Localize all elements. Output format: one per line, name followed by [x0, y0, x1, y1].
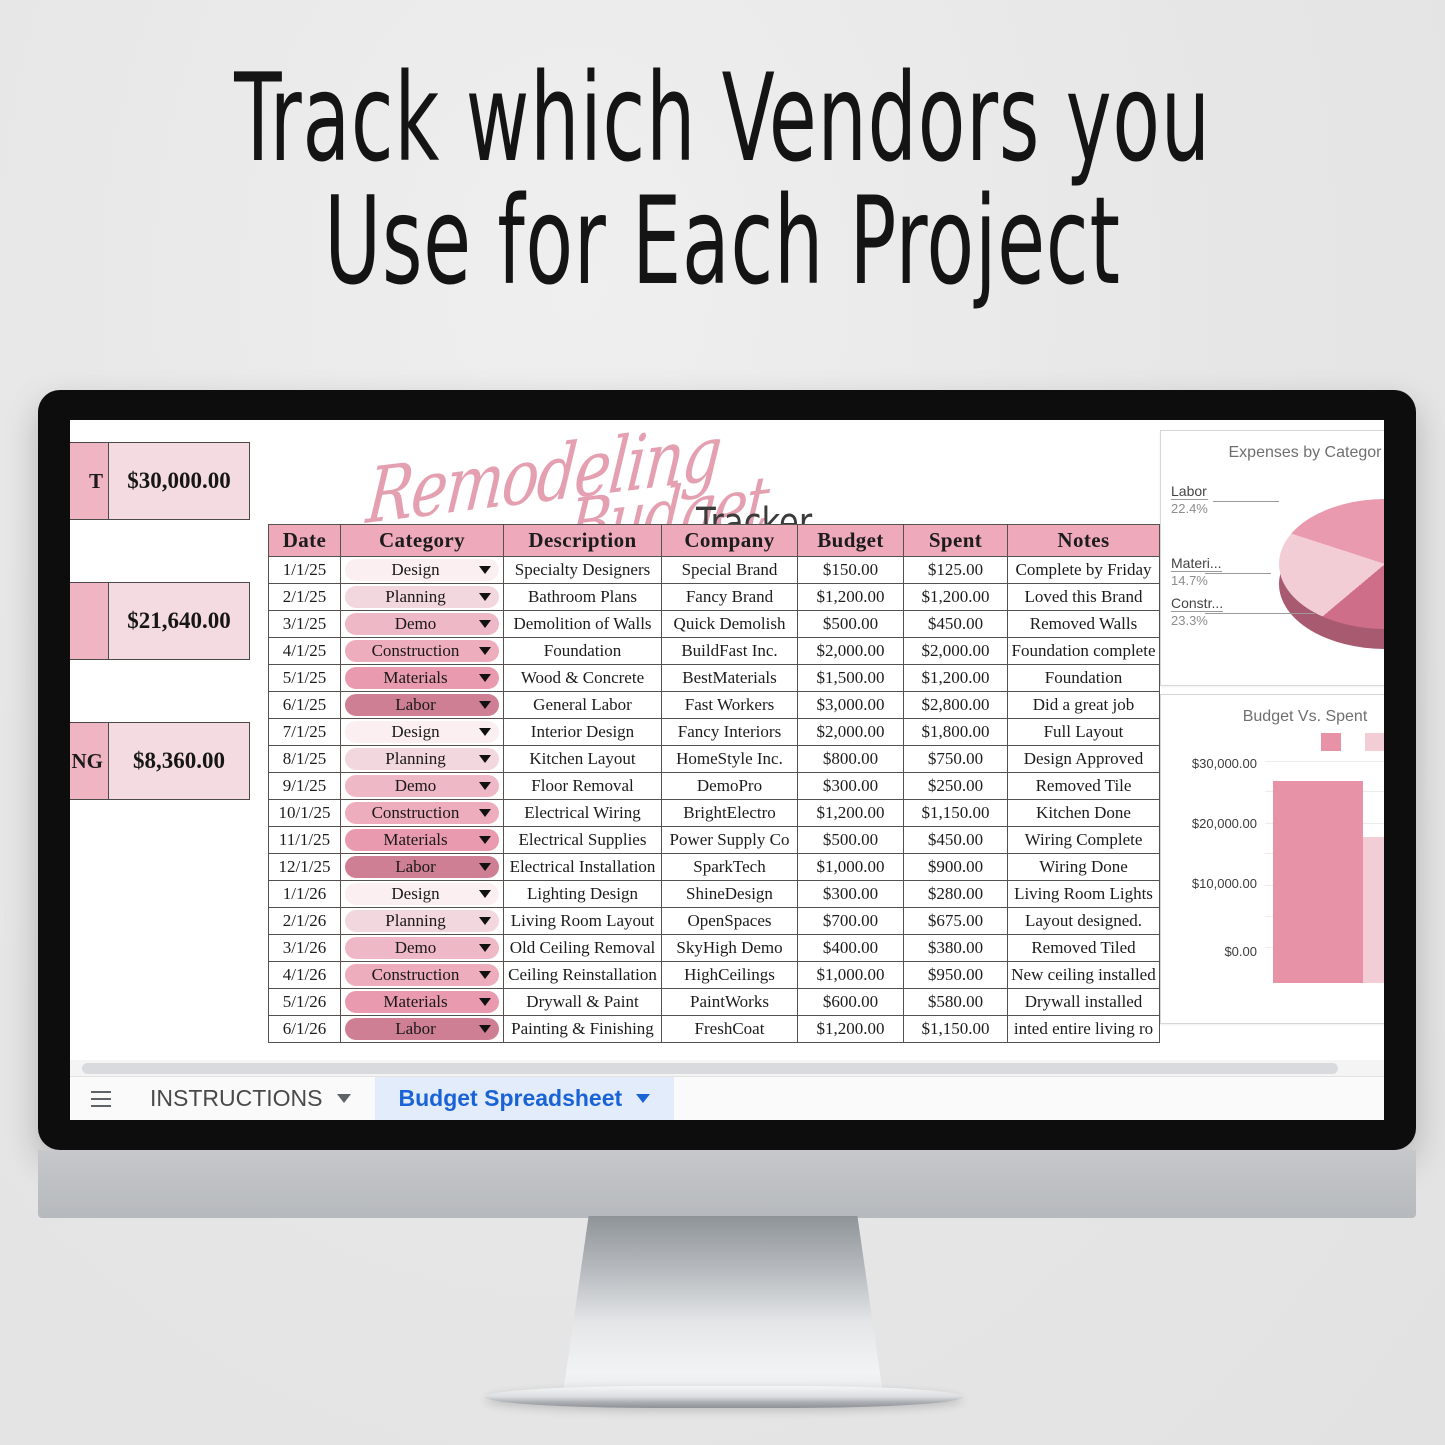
- cell-budget[interactable]: $150.00: [798, 557, 904, 584]
- cell-description[interactable]: General Labor: [504, 692, 662, 719]
- cell-notes[interactable]: inted entire living ro: [1008, 1016, 1160, 1043]
- cell-category-dropdown[interactable]: Construction: [341, 962, 504, 989]
- chevron-down-icon[interactable]: [479, 620, 491, 628]
- bar-spent: [1273, 781, 1363, 983]
- category-pill-label: Demo: [355, 776, 476, 796]
- chevron-down-icon[interactable]: [479, 998, 491, 1006]
- sheet-tab-label: Budget Spreadsheet: [399, 1085, 623, 1112]
- table-row[interactable]: 6/1/26LaborPainting & FinishingFreshCoat…: [269, 1016, 1160, 1043]
- page-headline: Track which Vendors you Use for Each Pro…: [145, 58, 1301, 305]
- cell-budget[interactable]: $1,200.00: [798, 584, 904, 611]
- cell-category-dropdown[interactable]: Labor: [341, 1016, 504, 1043]
- cell-description[interactable]: Lighting Design: [504, 881, 662, 908]
- cell-category-dropdown[interactable]: Planning: [341, 908, 504, 935]
- category-pill-label: Construction: [355, 965, 476, 985]
- monitor-screen: T$30,000.00$21,640.00NG$8,360.00 Remodel…: [70, 420, 1384, 1120]
- cell-spent[interactable]: $250.00: [904, 773, 1008, 800]
- cell-category-dropdown[interactable]: Construction: [341, 800, 504, 827]
- cell-budget[interactable]: $3,000.00: [798, 692, 904, 719]
- cell-spent[interactable]: $1,150.00: [904, 1016, 1008, 1043]
- cell-budget[interactable]: $800.00: [798, 746, 904, 773]
- column-header-notes[interactable]: Notes: [1008, 525, 1160, 557]
- horizontal-scrollbar[interactable]: [70, 1060, 1384, 1076]
- cell-notes[interactable]: Design Approved: [1008, 746, 1160, 773]
- category-pill[interactable]: Materials: [345, 667, 499, 689]
- bar-chart-legend: [1321, 733, 1384, 751]
- cell-notes[interactable]: Complete by Friday: [1008, 557, 1160, 584]
- cell-spent[interactable]: $950.00: [904, 962, 1008, 989]
- cell-spent[interactable]: $580.00: [904, 989, 1008, 1016]
- table-row[interactable]: 3/1/25DemoDemolition of WallsQuick Demol…: [269, 611, 1160, 638]
- category-pill[interactable]: Planning: [345, 910, 499, 932]
- table-header-row: DateCategoryDescriptionCompanyBudgetSpen…: [269, 525, 1160, 557]
- cell-spent[interactable]: $1,200.00: [904, 665, 1008, 692]
- chevron-down-icon[interactable]: [479, 593, 491, 601]
- category-pill-label: Materials: [355, 668, 476, 688]
- category-pill-label: Design: [355, 884, 476, 904]
- cell-notes[interactable]: Foundation complete: [1008, 638, 1160, 665]
- category-pill[interactable]: Design: [345, 721, 499, 743]
- cell-spent[interactable]: $2,000.00: [904, 638, 1008, 665]
- cell-category-dropdown[interactable]: Design: [341, 881, 504, 908]
- category-pill-label: Construction: [355, 641, 476, 661]
- category-pill-label: Demo: [355, 938, 476, 958]
- summary-card[interactable]: T$30,000.00: [70, 442, 250, 520]
- category-pill[interactable]: Construction: [345, 640, 499, 662]
- cell-budget[interactable]: $500.00: [798, 827, 904, 854]
- table-row[interactable]: 7/1/25DesignInterior DesignFancy Interio…: [269, 719, 1160, 746]
- cell-budget[interactable]: $1,000.00: [798, 962, 904, 989]
- cell-date[interactable]: 11/1/25: [269, 827, 341, 854]
- table-row[interactable]: 2/1/25PlanningBathroom PlansFancy Brand$…: [269, 584, 1160, 611]
- column-header-category[interactable]: Category: [341, 525, 504, 557]
- bar-chart-title: Budget Vs. Spent: [1161, 708, 1384, 726]
- chevron-down-icon[interactable]: [479, 755, 491, 763]
- pie-slice-name: Constr...: [1171, 595, 1223, 611]
- pie-chart-graphic: [1279, 493, 1384, 653]
- category-pill[interactable]: Planning: [345, 748, 499, 770]
- chevron-down-icon[interactable]: [479, 836, 491, 844]
- table-row[interactable]: 5/1/25MaterialsWood & ConcreteBestMateri…: [269, 665, 1160, 692]
- table-row[interactable]: 12/1/25LaborElectrical InstallationSpark…: [269, 854, 1160, 881]
- summary-card-label: [70, 583, 109, 659]
- table-row[interactable]: 2/1/26PlanningLiving Room LayoutOpenSpac…: [269, 908, 1160, 935]
- y-axis-tick: $30,000.00: [1165, 757, 1257, 771]
- category-pill[interactable]: Labor: [345, 856, 499, 878]
- cell-category-dropdown[interactable]: Planning: [341, 746, 504, 773]
- summary-card[interactable]: $21,640.00: [70, 582, 250, 660]
- cell-company[interactable]: PaintWorks: [662, 989, 798, 1016]
- pie-callout-leader-line: [1205, 573, 1271, 574]
- cell-spent[interactable]: $750.00: [904, 746, 1008, 773]
- cell-spent[interactable]: $2,800.00: [904, 692, 1008, 719]
- category-pill[interactable]: Planning: [345, 586, 499, 608]
- headline-line-2: Use for Each Project: [145, 181, 1301, 304]
- budget-table[interactable]: DateCategoryDescriptionCompanyBudgetSpen…: [268, 524, 1160, 1043]
- monitor-base: [485, 1386, 963, 1408]
- cell-date[interactable]: 3/1/25: [269, 611, 341, 638]
- cell-notes[interactable]: Wiring Done: [1008, 854, 1160, 881]
- table-body[interactable]: 1/1/25DesignSpecialty DesignersSpecial B…: [269, 557, 1160, 1043]
- cell-spent[interactable]: $380.00: [904, 935, 1008, 962]
- cell-category-dropdown[interactable]: Materials: [341, 665, 504, 692]
- cell-budget[interactable]: $700.00: [798, 908, 904, 935]
- cell-category-dropdown[interactable]: Design: [341, 719, 504, 746]
- cell-category-dropdown[interactable]: Construction: [341, 638, 504, 665]
- cell-date[interactable]: 3/1/26: [269, 935, 341, 962]
- cell-budget[interactable]: $400.00: [798, 935, 904, 962]
- cell-date[interactable]: 9/1/25: [269, 773, 341, 800]
- cell-notes[interactable]: Full Layout: [1008, 719, 1160, 746]
- cell-company[interactable]: DemoPro: [662, 773, 798, 800]
- cell-notes[interactable]: Did a great job: [1008, 692, 1160, 719]
- pie-chart-title: Expenses by Categor: [1161, 444, 1384, 462]
- summary-card-value: $30,000.00: [109, 443, 249, 519]
- cell-notes[interactable]: Drywall installed: [1008, 989, 1160, 1016]
- cell-company[interactable]: BrightElectro: [662, 800, 798, 827]
- cell-company[interactable]: Quick Demolish: [662, 611, 798, 638]
- cell-company[interactable]: HomeStyle Inc.: [662, 746, 798, 773]
- cell-company[interactable]: FreshCoat: [662, 1016, 798, 1043]
- summary-card-value: $8,360.00: [109, 723, 249, 799]
- column-header-description[interactable]: Description: [504, 525, 662, 557]
- cell-category-dropdown[interactable]: Demo: [341, 773, 504, 800]
- hamburger-line: [91, 1091, 111, 1093]
- column-header-budget[interactable]: Budget: [798, 525, 904, 557]
- category-pill[interactable]: Design: [345, 559, 499, 581]
- cell-description[interactable]: Kitchen Layout: [504, 746, 662, 773]
- cell-date[interactable]: 5/1/26: [269, 989, 341, 1016]
- cell-date[interactable]: 8/1/25: [269, 746, 341, 773]
- sheet-tab-bar[interactable]: INSTRUCTIONSBudget Spreadsheet: [70, 1076, 1384, 1120]
- pie-slice-callout: Labor22.4%: [1171, 483, 1208, 516]
- chevron-down-icon[interactable]: [479, 863, 491, 871]
- cell-company[interactable]: SkyHigh Demo: [662, 935, 798, 962]
- sheet-tab-budget-spreadsheet[interactable]: Budget Spreadsheet: [375, 1077, 675, 1121]
- category-pill[interactable]: Construction: [345, 802, 499, 824]
- cell-category-dropdown[interactable]: Demo: [341, 611, 504, 638]
- cell-description[interactable]: Floor Removal: [504, 773, 662, 800]
- cell-description[interactable]: Interior Design: [504, 719, 662, 746]
- category-pill-label: Planning: [355, 749, 476, 769]
- bar-chart-plot-area: TOTAL BUDGET: [1265, 761, 1384, 983]
- summary-card-label: T: [70, 443, 109, 519]
- column-header-spent[interactable]: Spent: [904, 525, 1008, 557]
- cell-spent[interactable]: $280.00: [904, 881, 1008, 908]
- cell-date[interactable]: 6/1/26: [269, 1016, 341, 1043]
- cell-notes[interactable]: Foundation: [1008, 665, 1160, 692]
- cell-company[interactable]: ShineDesign: [662, 881, 798, 908]
- table-row[interactable]: 1/1/25DesignSpecialty DesignersSpecial B…: [269, 557, 1160, 584]
- cell-spent[interactable]: $1,200.00: [904, 584, 1008, 611]
- pie-callout-leader-line: [1205, 613, 1315, 614]
- cell-company[interactable]: Fast Workers: [662, 692, 798, 719]
- cell-date[interactable]: 7/1/25: [269, 719, 341, 746]
- cell-notes[interactable]: Removed Walls: [1008, 611, 1160, 638]
- cell-notes[interactable]: Living Room Lights: [1008, 881, 1160, 908]
- chevron-down-icon[interactable]: [636, 1094, 650, 1103]
- cell-spent[interactable]: $675.00: [904, 908, 1008, 935]
- category-pill[interactable]: Design: [345, 883, 499, 905]
- legend-swatch-spent: [1321, 733, 1341, 751]
- column-header-company[interactable]: Company: [662, 525, 798, 557]
- cell-budget[interactable]: $1,500.00: [798, 665, 904, 692]
- chevron-down-icon[interactable]: [479, 566, 491, 574]
- cell-description[interactable]: Painting & Finishing: [504, 1016, 662, 1043]
- cell-date[interactable]: 5/1/25: [269, 665, 341, 692]
- hamburger-line: [91, 1105, 111, 1107]
- monitor-bezel: T$30,000.00$21,640.00NG$8,360.00 Remodel…: [38, 390, 1416, 1150]
- cell-category-dropdown[interactable]: Materials: [341, 827, 504, 854]
- chevron-down-icon[interactable]: [479, 890, 491, 898]
- category-pill[interactable]: Demo: [345, 613, 499, 635]
- hamburger-icon[interactable]: [70, 1091, 126, 1107]
- cell-budget[interactable]: $1,200.00: [798, 1016, 904, 1043]
- chevron-down-icon[interactable]: [479, 944, 491, 952]
- cell-description[interactable]: Demolition of Walls: [504, 611, 662, 638]
- cell-company[interactable]: BestMaterials: [662, 665, 798, 692]
- cell-date[interactable]: 4/1/25: [269, 638, 341, 665]
- category-pill[interactable]: Demo: [345, 775, 499, 797]
- cell-notes[interactable]: Loved this Brand: [1008, 584, 1160, 611]
- column-header-date[interactable]: Date: [269, 525, 341, 557]
- cell-category-dropdown[interactable]: Labor: [341, 854, 504, 881]
- chevron-down-icon[interactable]: [479, 674, 491, 682]
- table-row[interactable]: 6/1/25LaborGeneral LaborFast Workers$3,0…: [269, 692, 1160, 719]
- y-axis-tick: $10,000.00: [1165, 877, 1257, 891]
- table-row[interactable]: 4/1/25ConstructionFoundationBuildFast In…: [269, 638, 1160, 665]
- cell-description[interactable]: Bathroom Plans: [504, 584, 662, 611]
- summary-cards: T$30,000.00$21,640.00NG$8,360.00: [70, 442, 250, 862]
- cell-description[interactable]: Electrical Supplies: [504, 827, 662, 854]
- category-pill-label: Planning: [355, 911, 476, 931]
- headline-line-1: Track which Vendors you: [234, 49, 1211, 189]
- cell-spent[interactable]: $450.00: [904, 611, 1008, 638]
- cell-date[interactable]: 6/1/25: [269, 692, 341, 719]
- cell-budget[interactable]: $300.00: [798, 773, 904, 800]
- category-pill[interactable]: Materials: [345, 991, 499, 1013]
- table-row[interactable]: 10/1/25ConstructionElectrical WiringBrig…: [269, 800, 1160, 827]
- cell-description[interactable]: Wood & Concrete: [504, 665, 662, 692]
- cell-budget[interactable]: $600.00: [798, 989, 904, 1016]
- category-pill-label: Design: [355, 722, 476, 742]
- cell-company[interactable]: Special Brand: [662, 557, 798, 584]
- monitor-stand: [563, 1216, 883, 1394]
- table-row[interactable]: 1/1/26DesignLighting DesignShineDesign$3…: [269, 881, 1160, 908]
- cell-spent[interactable]: $450.00: [904, 827, 1008, 854]
- cell-date[interactable]: 1/1/26: [269, 881, 341, 908]
- category-pill[interactable]: Demo: [345, 937, 499, 959]
- pie-callout-leader-line: [1213, 501, 1279, 502]
- category-pill[interactable]: Labor: [345, 694, 499, 716]
- category-pill[interactable]: Labor: [345, 1018, 499, 1040]
- sheet-tab-label: INSTRUCTIONS: [150, 1085, 323, 1112]
- cell-budget[interactable]: $1,000.00: [798, 854, 904, 881]
- cell-date[interactable]: 4/1/26: [269, 962, 341, 989]
- cell-description[interactable]: Ceiling Reinstallation: [504, 962, 662, 989]
- cell-notes[interactable]: Kitchen Done: [1008, 800, 1160, 827]
- category-pill[interactable]: Construction: [345, 964, 499, 986]
- cell-notes[interactable]: Removed Tiled: [1008, 935, 1160, 962]
- cell-date[interactable]: 1/1/25: [269, 557, 341, 584]
- pie-slice-name: Labor: [1171, 483, 1207, 499]
- table-header: DateCategoryDescriptionCompanyBudgetSpen…: [269, 525, 1160, 557]
- spreadsheet-surface: T$30,000.00$21,640.00NG$8,360.00 Remodel…: [70, 420, 1384, 1120]
- chart-gridline: [1265, 761, 1384, 762]
- table-row[interactable]: 3/1/26DemoOld Ceiling RemovalSkyHigh Dem…: [269, 935, 1160, 962]
- summary-card[interactable]: NG$8,360.00: [70, 722, 250, 800]
- cell-date[interactable]: 12/1/25: [269, 854, 341, 881]
- cell-date[interactable]: 10/1/25: [269, 800, 341, 827]
- cell-category-dropdown[interactable]: Design: [341, 557, 504, 584]
- cell-description[interactable]: Foundation: [504, 638, 662, 665]
- chevron-down-icon[interactable]: [479, 728, 491, 736]
- chevron-down-icon[interactable]: [479, 809, 491, 817]
- table-row[interactable]: 4/1/26ConstructionCeiling Reinstallation…: [269, 962, 1160, 989]
- cell-company[interactable]: Fancy Brand: [662, 584, 798, 611]
- chevron-down-icon[interactable]: [479, 701, 491, 709]
- scrollbar-thumb[interactable]: [82, 1063, 1338, 1074]
- table-row[interactable]: 5/1/26MaterialsDrywall & PaintPaintWorks…: [269, 989, 1160, 1016]
- category-pill-label: Labor: [355, 1019, 476, 1039]
- hamburger-line: [91, 1098, 111, 1100]
- cell-date[interactable]: 2/1/25: [269, 584, 341, 611]
- pie-slice-name: Materi...: [1171, 555, 1222, 571]
- category-pill-label: Labor: [355, 695, 476, 715]
- y-axis-tick: $0.00: [1165, 945, 1257, 959]
- y-axis-tick: $20,000.00: [1165, 817, 1257, 831]
- sheet-tabs[interactable]: INSTRUCTIONSBudget Spreadsheet: [126, 1077, 674, 1121]
- cell-company[interactable]: HighCeilings: [662, 962, 798, 989]
- category-pill[interactable]: Materials: [345, 829, 499, 851]
- cell-description[interactable]: Specialty Designers: [504, 557, 662, 584]
- cell-category-dropdown[interactable]: Demo: [341, 935, 504, 962]
- cell-description[interactable]: Electrical Installation: [504, 854, 662, 881]
- bar-total-budget: [1363, 837, 1384, 983]
- category-pill-label: Materials: [355, 992, 476, 1012]
- pie-slice-percent: 22.4%: [1171, 499, 1208, 516]
- table-row[interactable]: 11/1/25MaterialsElectrical SuppliesPower…: [269, 827, 1160, 854]
- cell-budget[interactable]: $2,000.00: [798, 638, 904, 665]
- cell-spent[interactable]: $1,800.00: [904, 719, 1008, 746]
- cell-spent[interactable]: $900.00: [904, 854, 1008, 881]
- category-pill-label: Materials: [355, 830, 476, 850]
- pie-chart-panel[interactable]: Expenses by Categor Labor22.4%Materi...1…: [1160, 430, 1384, 686]
- bar-chart-panel[interactable]: Budget Vs. Spent $30,000.00$20,000.00$10…: [1160, 694, 1384, 1024]
- cell-budget[interactable]: $500.00: [798, 611, 904, 638]
- cell-spent[interactable]: $1,150.00: [904, 800, 1008, 827]
- category-pill-label: Construction: [355, 803, 476, 823]
- cell-notes[interactable]: Wiring Complete: [1008, 827, 1160, 854]
- cell-company[interactable]: BuildFast Inc.: [662, 638, 798, 665]
- table-row[interactable]: 8/1/25PlanningKitchen LayoutHomeStyle In…: [269, 746, 1160, 773]
- cell-budget[interactable]: $2,000.00: [798, 719, 904, 746]
- chevron-down-icon[interactable]: [479, 917, 491, 925]
- category-pill-label: Labor: [355, 857, 476, 877]
- category-pill-label: Design: [355, 560, 476, 580]
- summary-card-label: NG: [70, 723, 109, 799]
- chevron-down-icon[interactable]: [479, 647, 491, 655]
- cell-description[interactable]: Old Ceiling Removal: [504, 935, 662, 962]
- summary-card-value: $21,640.00: [109, 583, 249, 659]
- cell-budget[interactable]: $1,200.00: [798, 800, 904, 827]
- cell-notes[interactable]: New ceiling installed: [1008, 962, 1160, 989]
- cell-notes[interactable]: Layout designed.: [1008, 908, 1160, 935]
- cell-budget[interactable]: $300.00: [798, 881, 904, 908]
- cell-company[interactable]: SparkTech: [662, 854, 798, 881]
- cell-company[interactable]: Power Supply Co: [662, 827, 798, 854]
- category-pill-label: Planning: [355, 587, 476, 607]
- cell-spent[interactable]: $125.00: [904, 557, 1008, 584]
- cell-description[interactable]: Electrical Wiring: [504, 800, 662, 827]
- pie-slice-callout: Constr...23.3%: [1171, 595, 1223, 628]
- category-pill-label: Demo: [355, 614, 476, 634]
- table-row[interactable]: 9/1/25DemoFloor RemovalDemoPro$300.00$25…: [269, 773, 1160, 800]
- cell-notes[interactable]: Removed Tile: [1008, 773, 1160, 800]
- sheet-tab-instructions[interactable]: INSTRUCTIONS: [126, 1077, 375, 1121]
- cell-description[interactable]: Drywall & Paint: [504, 989, 662, 1016]
- chevron-down-icon[interactable]: [479, 1025, 491, 1033]
- legend-swatch-total-budget: [1365, 733, 1384, 751]
- cell-category-dropdown[interactable]: Labor: [341, 692, 504, 719]
- chevron-down-icon[interactable]: [479, 971, 491, 979]
- cell-company[interactable]: OpenSpaces: [662, 908, 798, 935]
- cell-description[interactable]: Living Room Layout: [504, 908, 662, 935]
- cell-date[interactable]: 2/1/26: [269, 908, 341, 935]
- chevron-down-icon[interactable]: [479, 782, 491, 790]
- pie-slice-callout: Materi...14.7%: [1171, 555, 1222, 588]
- chevron-down-icon[interactable]: [337, 1094, 351, 1103]
- monitor-chin: [38, 1150, 1416, 1218]
- cell-category-dropdown[interactable]: Materials: [341, 989, 504, 1016]
- cell-company[interactable]: Fancy Interiors: [662, 719, 798, 746]
- cell-category-dropdown[interactable]: Planning: [341, 584, 504, 611]
